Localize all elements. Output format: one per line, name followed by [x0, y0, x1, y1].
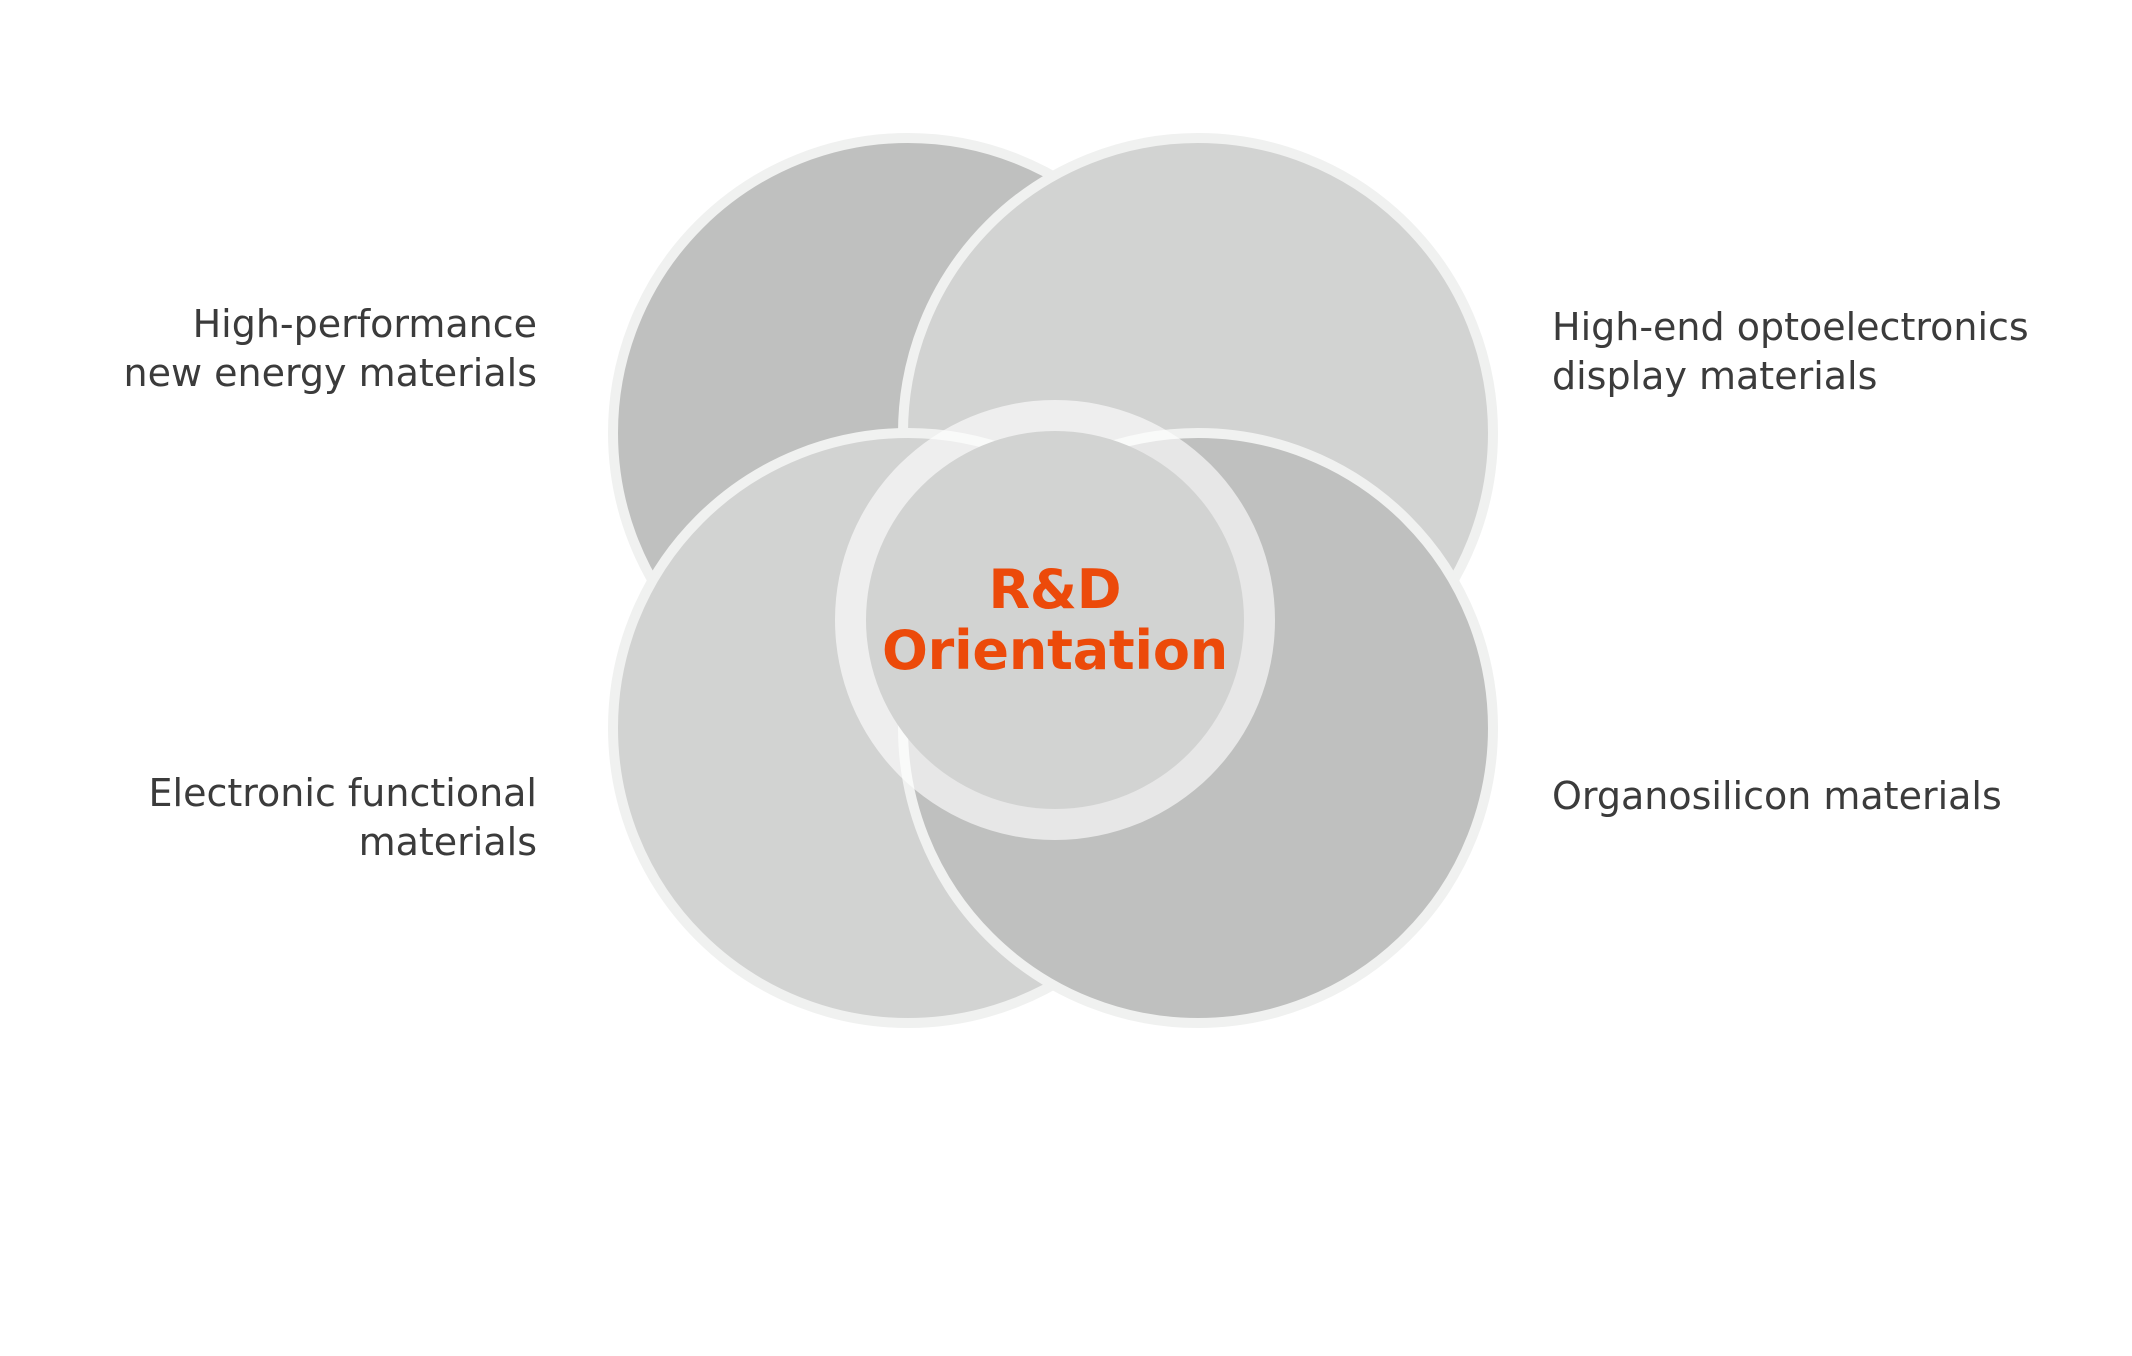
tv-panel-icon	[2053, 1206, 2132, 1346]
center-hub-inner: R&D Orientation	[866, 431, 1244, 809]
center-title: R&D Orientation	[882, 559, 1228, 681]
label-electronic: Electronic functional materials	[149, 769, 537, 868]
center-hub[interactable]: R&D Orientation	[835, 400, 1275, 840]
curved-display-icon	[2058, 343, 2132, 518]
label-display: High-end optoelectronics display materia…	[1552, 303, 2029, 402]
label-energy: High-performance new energy materials	[123, 300, 537, 399]
laptop-tablet-phone-icon	[1268, 1206, 1558, 1356]
label-organosilicon: Organosilicon materials	[1552, 772, 2002, 821]
diagram-canvas: R&D Orientation High-performance new ene…	[0, 0, 2132, 1150]
